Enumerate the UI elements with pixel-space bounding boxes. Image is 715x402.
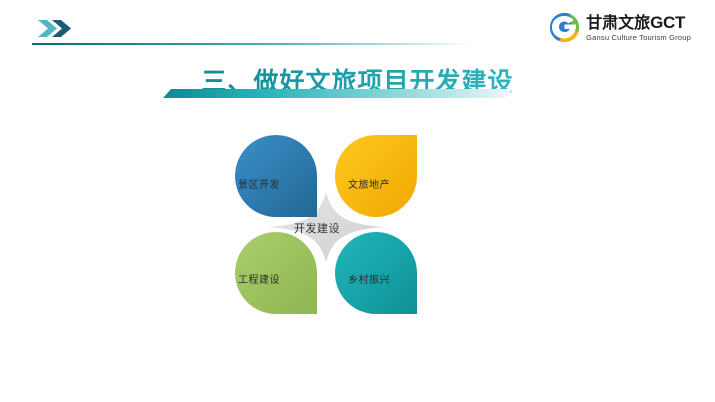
center-label: 开发建设 — [294, 220, 340, 236]
double-chevron-right-icon — [38, 20, 78, 37]
title-underline-bar — [163, 89, 513, 98]
header-divider-line — [32, 43, 472, 45]
slide-canvas: 甘肃文旅GCT Gansu Culture Tourism Group 三、做好… — [0, 0, 715, 402]
gct-circle-logo-icon — [549, 12, 580, 43]
brand-logo: 甘肃文旅GCT Gansu Culture Tourism Group — [549, 12, 691, 43]
logo-name-en: Gansu Culture Tourism Group — [586, 34, 691, 42]
petal-label-bottom-right: 乡村振兴 — [348, 271, 390, 286]
petal-diagram: 景区开发 文旅地产 工程建设 乡村振兴 开发建设 — [206, 132, 446, 317]
logo-name-abbr: GCT — [650, 13, 685, 32]
petal-label-top-right: 文旅地产 — [348, 176, 390, 191]
petal-label-bottom-left: 工程建设 — [238, 271, 280, 286]
petal-label-top-left: 景区开发 — [238, 176, 280, 191]
logo-name-cn: 甘肃文旅 — [586, 15, 650, 32]
